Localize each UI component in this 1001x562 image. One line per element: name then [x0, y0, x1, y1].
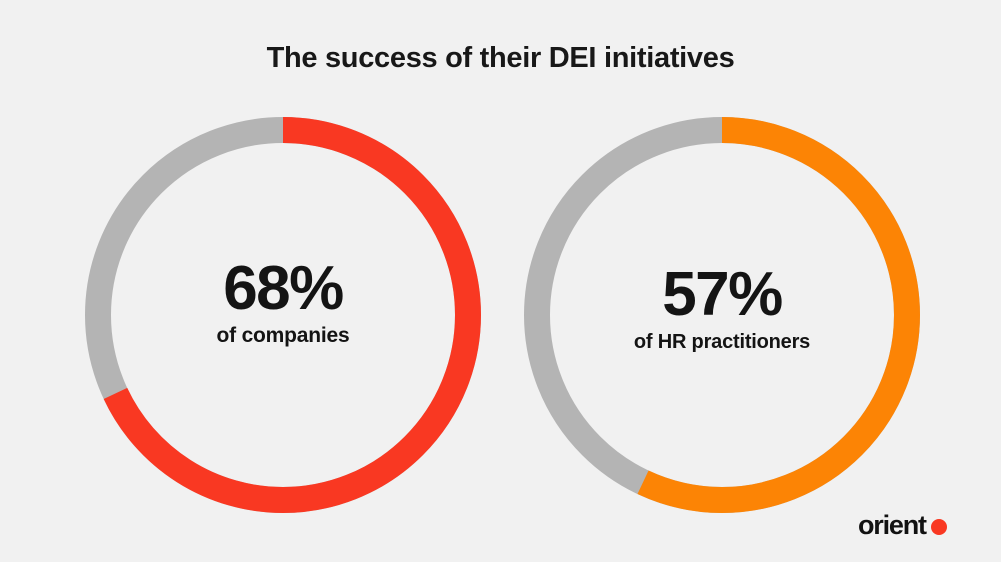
- page-title: The success of their DEI initiatives: [0, 38, 1001, 78]
- brand-dot-icon: [931, 519, 947, 535]
- slide-canvas: The success of their DEI initiatives 68%…: [0, 0, 1001, 562]
- donut-companies-svg: [83, 115, 483, 515]
- donut-practitioners-svg: [522, 115, 922, 515]
- donut-chart-companies: 68% of companies: [83, 115, 483, 515]
- brand-logo: orient: [858, 508, 947, 542]
- donut-chart-hr-practitioners: 57% of HR practitioners: [522, 115, 922, 515]
- brand-logo-text: orient: [858, 512, 926, 539]
